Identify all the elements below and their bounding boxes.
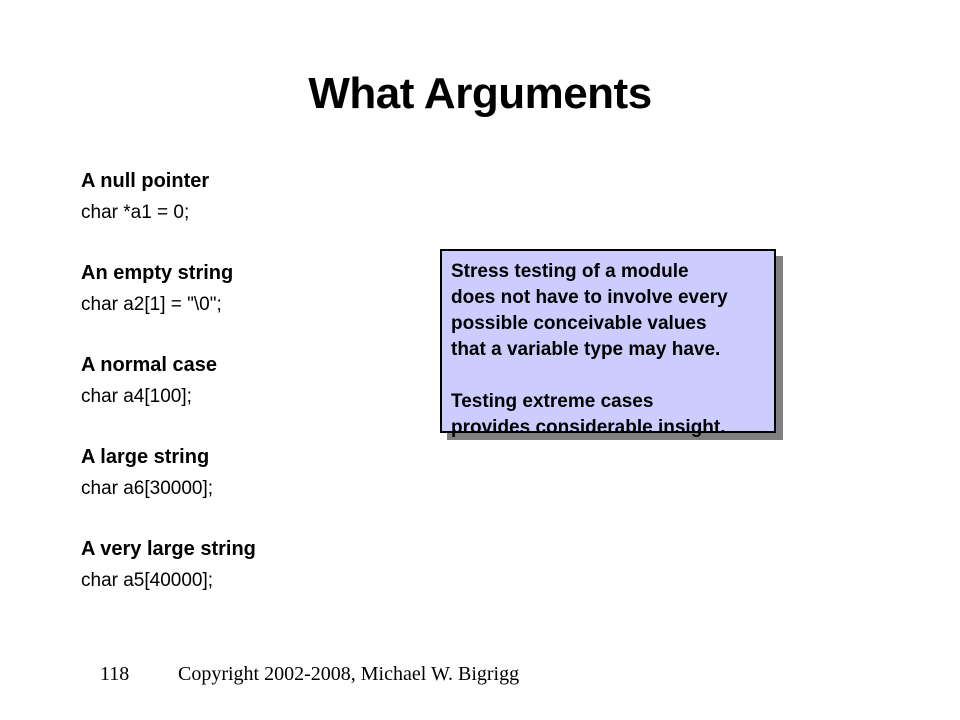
callout-text-line: possible conceivable values	[451, 311, 764, 337]
list-item: An empty string char a2[1] = "\0";	[81, 258, 421, 320]
case-code: char a6[30000];	[81, 473, 421, 504]
argument-case-list: A null pointer char *a1 = 0; An empty st…	[81, 166, 421, 596]
page-title: What Arguments	[0, 68, 960, 120]
callout-text-line: Stress testing of a module	[451, 259, 764, 285]
callout-text-line: Testing extreme cases	[451, 389, 764, 415]
list-item: A normal case char a4[100];	[81, 350, 421, 412]
callout-paragraph-2: Testing extreme cases provides considera…	[451, 389, 764, 441]
list-item: A very large string char a5[40000];	[81, 534, 421, 596]
copyright-notice: Copyright 2002-2008, Michael W. Bigrigg	[178, 661, 519, 687]
callout-text-line: provides considerable insight.	[451, 415, 764, 441]
callout-text-line: does not have to involve every	[451, 285, 764, 311]
case-heading: A null pointer	[81, 166, 421, 197]
list-item: A null pointer char *a1 = 0;	[81, 166, 421, 228]
slide-footer: 118 Copyright 2002-2008, Michael W. Bigr…	[100, 661, 519, 687]
page-number: 118	[100, 661, 178, 687]
slide-canvas: What Arguments A null pointer char *a1 =…	[0, 0, 960, 720]
callout-paragraph-1: Stress testing of a module does not have…	[451, 259, 764, 363]
callout-box: Stress testing of a module does not have…	[440, 249, 776, 433]
case-heading: An empty string	[81, 258, 421, 289]
case-code: char *a1 = 0;	[81, 197, 421, 228]
case-heading: A large string	[81, 442, 421, 473]
callout-text-line: that a variable type may have.	[451, 337, 764, 363]
callout-content: Stress testing of a module does not have…	[442, 251, 774, 441]
case-heading: A normal case	[81, 350, 421, 381]
list-item: A large string char a6[30000];	[81, 442, 421, 504]
case-heading: A very large string	[81, 534, 421, 565]
case-code: char a2[1] = "\0";	[81, 289, 421, 320]
case-code: char a5[40000];	[81, 565, 421, 596]
case-code: char a4[100];	[81, 381, 421, 412]
